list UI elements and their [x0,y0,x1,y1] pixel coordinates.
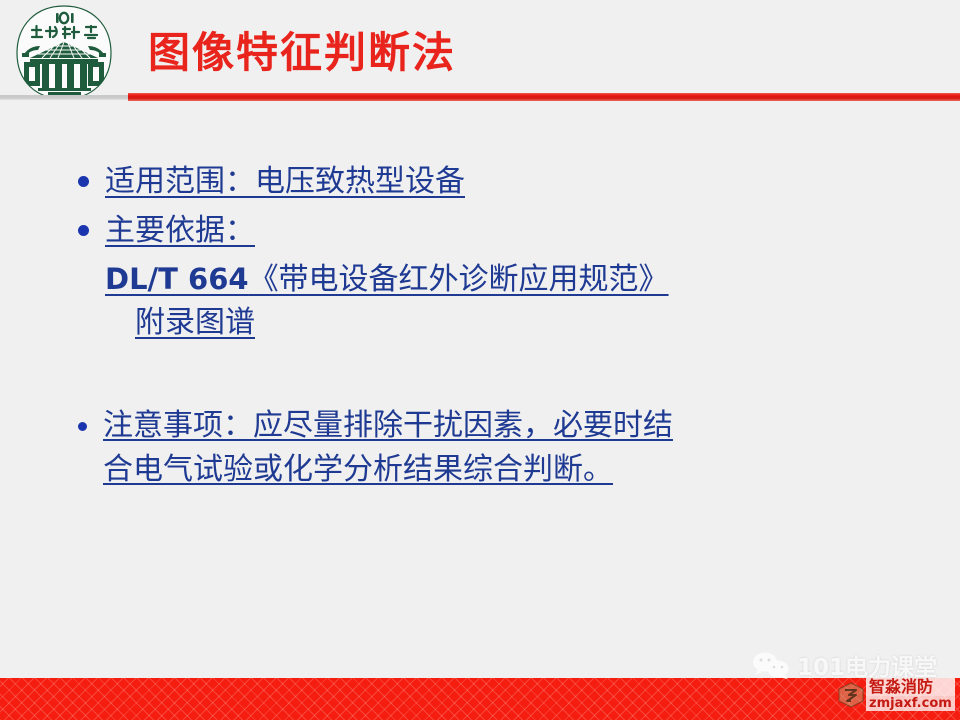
bullet-item-scope: 适用范围：电压致热型设备 [78,160,918,203]
logo-emblem-icon [12,4,116,102]
site-watermark-text: 智淼消防 zmjaxf.com [866,678,955,711]
note-paragraph: 注意事项：应尽量排除干扰因素，必要时结 合电气试验或化学分析结果综合判断。 [103,404,673,492]
header-divider-gray [0,95,130,100]
reference-appendix-line: 附录图谱 [105,301,918,344]
site-watermark-url: zmjaxf.com [866,696,955,711]
note-line-2: 合电气试验或化学分析结果综合判断。 [103,452,613,487]
bullet-dot-icon [78,422,87,431]
bullet-label-basis: 主要依据： [105,209,255,252]
slide-header: 图像特征判断法 [0,0,960,104]
standard-title: 《带电设备红外诊断应用规范》 [249,262,669,297]
slide-body: 适用范围：电压致热型设备 主要依据： DL/T 664《带电设备红外诊断应用规范… [78,160,918,498]
reference-standard-line: DL/T 664《带电设备红外诊断应用规范》 [105,258,918,301]
footer-red-bar [0,678,960,720]
site-watermark: 智淼消防 zmjaxf.com [838,678,955,711]
bullet-dot-icon [78,225,89,236]
bullet-label-scope: 适用范围：电压致热型设备 [105,160,465,203]
bullet-item-note: 注意事项：应尽量排除干扰因素，必要时结 合电气试验或化学分析结果综合判断。 [78,404,918,492]
page-title: 图像特征判断法 [148,26,456,80]
zm-logo-icon [838,682,864,708]
note-line-1: 注意事项：应尽量排除干扰因素，必要时结 [103,408,673,443]
site-watermark-name: 智淼消防 [866,678,955,696]
bullet-dot-icon [78,176,89,187]
institution-logo [12,4,116,102]
content-spacer [78,344,918,404]
bullet-item-basis: 主要依据： [78,209,918,252]
header-divider-red [128,93,960,101]
standard-appendix: 附录图谱 [135,305,255,340]
standard-code: DL/T 664 [105,262,249,296]
wechat-icon [752,651,790,679]
presentation-slide: 图像特征判断法 适用范围：电压致热型设备 主要依据： DL/T 664《带电设备… [0,0,960,720]
